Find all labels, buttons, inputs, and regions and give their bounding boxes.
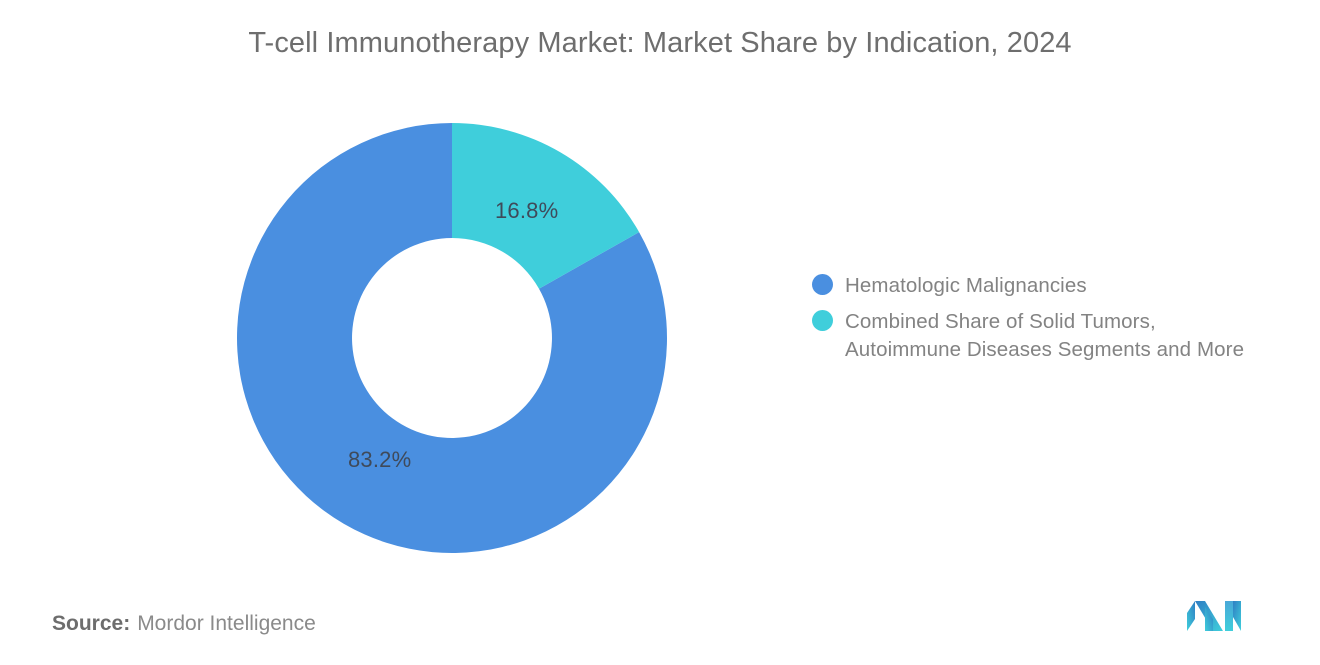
legend-item-label: Hematologic Malignancies xyxy=(845,272,1087,300)
source-value: Mordor Intelligence xyxy=(137,612,316,635)
donut-chart-plot-area: 83.2% 16.8% xyxy=(230,110,680,570)
slice-value-label-hematologic-malignancies: 83.2% xyxy=(348,447,411,473)
source-label: Source: xyxy=(52,612,130,635)
chart-figure: T-cell Immunotherapy Market: Market Shar… xyxy=(0,0,1320,665)
donut-chart-svg xyxy=(230,110,680,570)
chart-legend: Hematologic Malignancies Combined Share … xyxy=(812,272,1292,372)
legend-color-swatch-icon xyxy=(812,274,833,295)
legend-item-label-line1: Hematologic Malignancies xyxy=(845,274,1087,297)
source-attribution: Source:Mordor Intelligence xyxy=(52,612,316,636)
legend-item-label-line2: Autoimmune Diseases Segments and More xyxy=(845,336,1244,364)
slice-value-label-combined-share: 16.8% xyxy=(495,198,558,224)
legend-item-label: Combined Share of Solid Tumors, Autoimmu… xyxy=(845,308,1244,364)
legend-item-combined-share[interactable]: Combined Share of Solid Tumors, Autoimmu… xyxy=(812,308,1292,364)
legend-item-label-line1: Combined Share of Solid Tumors, xyxy=(845,310,1156,333)
legend-color-swatch-icon xyxy=(812,310,833,331)
legend-item-hematologic-malignancies[interactable]: Hematologic Malignancies xyxy=(812,272,1292,300)
page-title: T-cell Immunotherapy Market: Market Shar… xyxy=(0,27,1320,60)
mordor-intelligence-logo-icon xyxy=(1185,597,1255,633)
